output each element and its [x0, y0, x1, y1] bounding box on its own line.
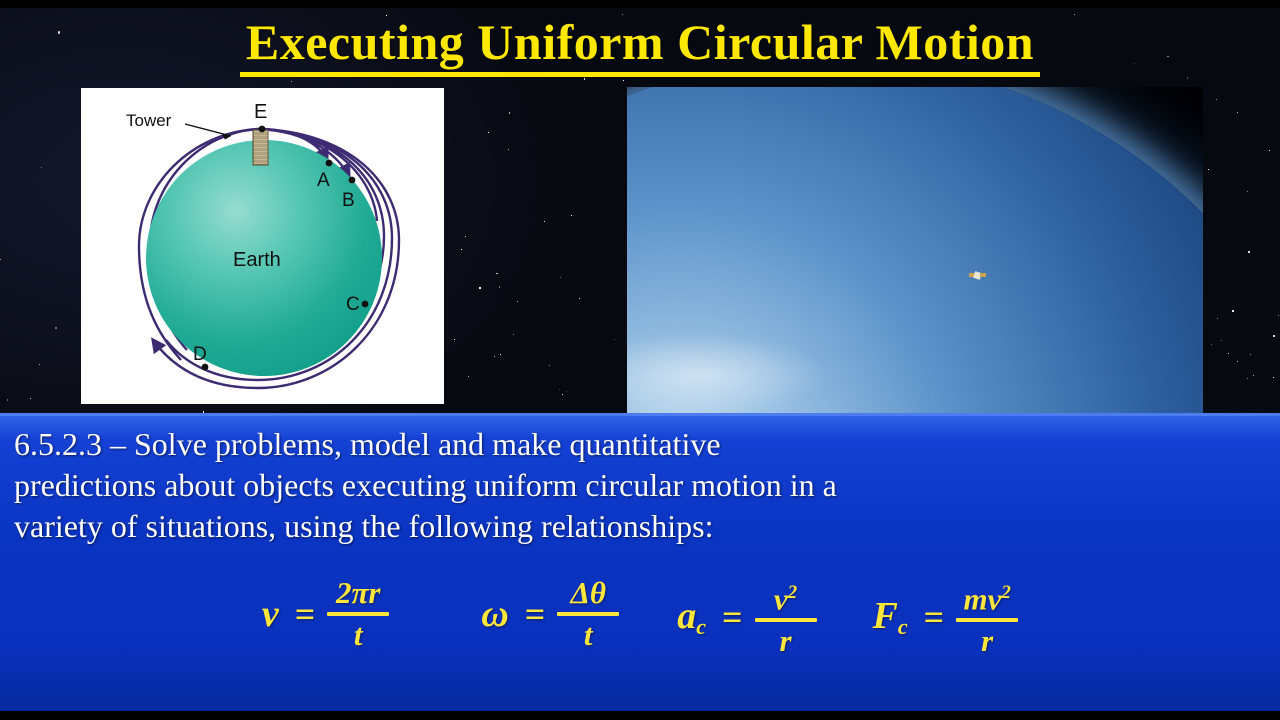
formula-velocity-denominator: t: [348, 618, 369, 652]
formula-centripetal-acceleration-denominator: r: [773, 624, 797, 658]
earth-from-orbit-photo: [627, 87, 1203, 413]
formula-centripetal-acceleration-equals: =: [710, 596, 755, 638]
formula-centripetal-force-equals: =: [912, 596, 957, 638]
formula-velocity-lhs: v: [262, 592, 283, 636]
tower-label: Tower: [126, 111, 172, 130]
diagram-svg: Tower E A B C D Earth: [81, 88, 444, 404]
photo-inner: [627, 87, 1203, 413]
fraction-bar: [956, 618, 1018, 622]
formula-velocity: v = 2πr t: [262, 576, 389, 652]
top-black-bar: [0, 0, 1280, 8]
point-label-a: A: [317, 170, 330, 191]
formula-centripetal-force-denominator: r: [975, 624, 999, 658]
page-title: Executing Uniform Circular Motion: [0, 14, 1280, 77]
formula-centripetal-force: Fc = mv2 r: [873, 576, 1019, 658]
formula-centripetal-force-fraction: mv2 r: [956, 576, 1018, 658]
standard-line-2: predictions about objects executing unif…: [14, 465, 1270, 506]
subscript-c: c: [696, 614, 706, 639]
fraction-bar: [327, 612, 389, 616]
slide-root: Executing Uniform Circular Motion: [0, 0, 1280, 720]
formula-velocity-numerator: 2πr: [330, 576, 387, 610]
formula-centripetal-acceleration: ac = v2 r: [677, 576, 816, 658]
formula-row: v = 2πr t ω = Δθ t ac = v2: [0, 576, 1280, 658]
point-label-d: D: [193, 344, 207, 365]
formula-angular-velocity: ω = Δθ t: [481, 576, 619, 652]
tower-shape: [253, 130, 268, 165]
fraction-bar: [557, 612, 619, 616]
formula-centripetal-acceleration-fraction: v2 r: [755, 576, 817, 658]
earth-label: Earth: [233, 249, 281, 271]
standard-text: 6.5.2.3 – Solve problems, model and make…: [10, 424, 1270, 547]
bottom-black-bar: [0, 711, 1280, 720]
formula-centripetal-acceleration-numerator: v2: [768, 576, 803, 616]
point-label-c: C: [346, 294, 360, 315]
standard-panel: 6.5.2.3 – Solve problems, model and make…: [0, 413, 1280, 711]
subscript-c: c: [898, 614, 908, 639]
formula-velocity-fraction: 2πr t: [327, 576, 389, 652]
point-label-e: E: [254, 101, 267, 123]
formula-centripetal-force-numerator: mv2: [957, 576, 1016, 616]
formula-velocity-equals: =: [283, 593, 328, 635]
newton-cannonball-diagram: Tower E A B C D Earth: [81, 88, 444, 404]
fraction-bar: [755, 618, 817, 622]
satellite-icon: [969, 269, 985, 283]
formula-angular-velocity-equals: =: [513, 593, 558, 635]
formula-angular-velocity-numerator: Δθ: [564, 576, 612, 610]
standard-line-1: 6.5.2.3 – Solve problems, model and make…: [14, 424, 1270, 465]
formula-centripetal-acceleration-lhs: ac: [677, 594, 710, 640]
formula-centripetal-force-lhs: Fc: [873, 594, 912, 640]
point-label-b: B: [342, 190, 355, 211]
formula-angular-velocity-fraction: Δθ t: [557, 576, 619, 652]
standard-line-3: variety of situations, using the followi…: [14, 506, 1270, 547]
formula-angular-velocity-denominator: t: [578, 618, 599, 652]
page-title-text: Executing Uniform Circular Motion: [240, 14, 1040, 77]
formula-angular-velocity-lhs: ω: [481, 592, 512, 636]
